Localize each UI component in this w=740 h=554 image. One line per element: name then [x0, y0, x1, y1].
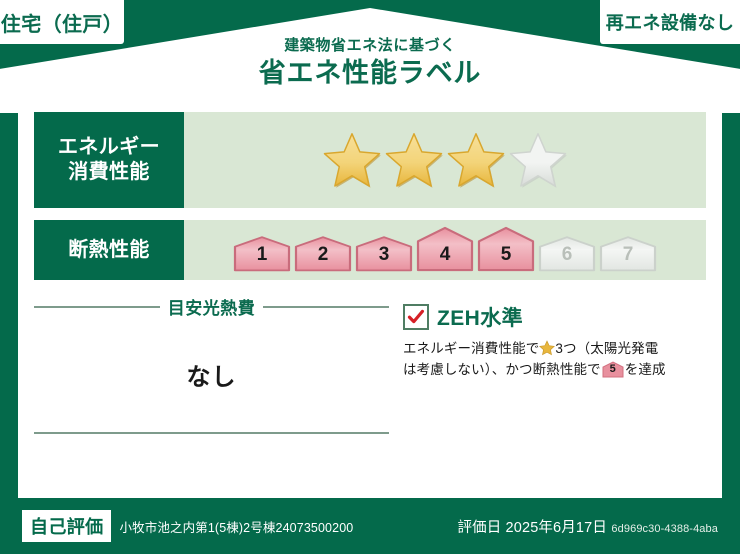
cost-rule-left — [34, 306, 160, 308]
renewable-energy-tag-label: 再エネ設備なし — [606, 9, 735, 35]
insulation-level-badge: 5 — [477, 226, 535, 272]
utility-cost-title: 目安光熱費 — [168, 294, 256, 319]
mini-star-icon — [539, 340, 555, 356]
insulation-level-number: 7 — [599, 244, 657, 266]
zeh-checkbox[interactable] — [403, 304, 429, 330]
check-icon — [407, 308, 425, 326]
lower-section: 目安光熱費 なし ZEH水準 エネルギー消費性能で3つ（太陽光発電は考慮しな — [34, 294, 706, 444]
insulation-level-number: 6 — [538, 244, 596, 266]
energy-key-line1: エネルギー — [58, 135, 160, 160]
utility-cost-header: 目安光熱費 — [34, 294, 389, 319]
insulation-level-badge: 7 — [599, 234, 657, 272]
star-filled-icon — [322, 131, 382, 189]
insulation-performance-value: 1234567 — [184, 220, 706, 280]
star-rating — [322, 131, 568, 189]
star-empty-icon — [508, 131, 568, 189]
building-type-tag-label: 住宅（住戸） — [1, 8, 123, 37]
insulation-level-badge: 1 — [233, 234, 291, 272]
zeh-desc-part1: エネルギー消費性能で — [403, 341, 539, 356]
insulation-level-number: 4 — [416, 244, 474, 266]
insulation-key-label: 断熱性能 — [68, 238, 150, 263]
insulation-level-badge: 2 — [294, 234, 352, 272]
zeh-block: ZEH水準 エネルギー消費性能で3つ（太陽光発電は考慮しない）、かつ断熱性能で5… — [389, 294, 706, 444]
energy-performance-row: エネルギー 消費性能 — [34, 112, 706, 208]
zeh-description: エネルギー消費性能で3つ（太陽光発電は考慮しない）、かつ断熱性能で5を達成 — [403, 339, 706, 381]
self-evaluation-badge: 自己評価 — [22, 510, 111, 542]
energy-label-root: 住宅（住戸） 再エネ設備なし 建築物省エネ法に基づく 省エネ性能ラベル エネルギ… — [0, 0, 740, 554]
building-type-tag: 住宅（住戸） — [0, 0, 124, 44]
insulation-level-number: 1 — [233, 244, 291, 266]
insulation-level-badge: 4 — [416, 226, 474, 272]
energy-performance-value — [184, 112, 706, 208]
zeh-header: ZEH水準 — [403, 302, 706, 332]
label-id: 6d969c30-4388-4aba — [611, 523, 718, 535]
insulation-level-number: 3 — [355, 244, 413, 266]
label-footer: 自己評価 小牧市池之内第1(5棟)2号棟24073500200 評価日 2025… — [0, 498, 740, 554]
utility-cost-block: 目安光熱費 なし — [34, 294, 389, 444]
star-filled-icon — [384, 131, 444, 189]
insulation-level-number: 5 — [477, 244, 535, 266]
insulation-performance-key: 断熱性能 — [34, 220, 184, 280]
energy-key-line2: 消費性能 — [68, 160, 150, 185]
property-address: 小牧市池之内第1(5棟)2号棟24073500200 — [119, 517, 353, 536]
zeh-desc-part3: を達成 — [625, 362, 666, 377]
evaluation-date: 評価日 2025年6月17日 — [457, 520, 607, 536]
utility-cost-bottom-rule — [34, 432, 389, 434]
zeh-title: ZEH水準 — [437, 302, 523, 332]
renewable-energy-tag: 再エネ設備なし — [600, 0, 740, 44]
utility-cost-value: なし — [34, 357, 389, 392]
energy-performance-key: エネルギー 消費性能 — [34, 112, 184, 208]
footer-right: 評価日 2025年6月17日 6d969c30-4388-4aba — [457, 516, 718, 537]
mini-badge-number: 5 — [602, 363, 624, 376]
insulation-performance-row: 断熱性能 1234567 — [34, 220, 706, 280]
zeh-desc-stars: 3つ（太陽光発電 — [555, 341, 658, 356]
label-card: エネルギー 消費性能 断熱性能 1234567 目安光熱費 — [18, 98, 722, 498]
mini-insulation-badge: 5 — [602, 361, 624, 378]
cost-rule-right — [263, 306, 389, 308]
insulation-level-scale: 1234567 — [233, 226, 657, 274]
insulation-level-number: 2 — [294, 244, 352, 266]
insulation-level-badge: 3 — [355, 234, 413, 272]
zeh-desc-part2: は考慮しない）、かつ断熱性能で — [403, 362, 601, 377]
star-filled-icon — [446, 131, 506, 189]
insulation-level-badge: 6 — [538, 234, 596, 272]
